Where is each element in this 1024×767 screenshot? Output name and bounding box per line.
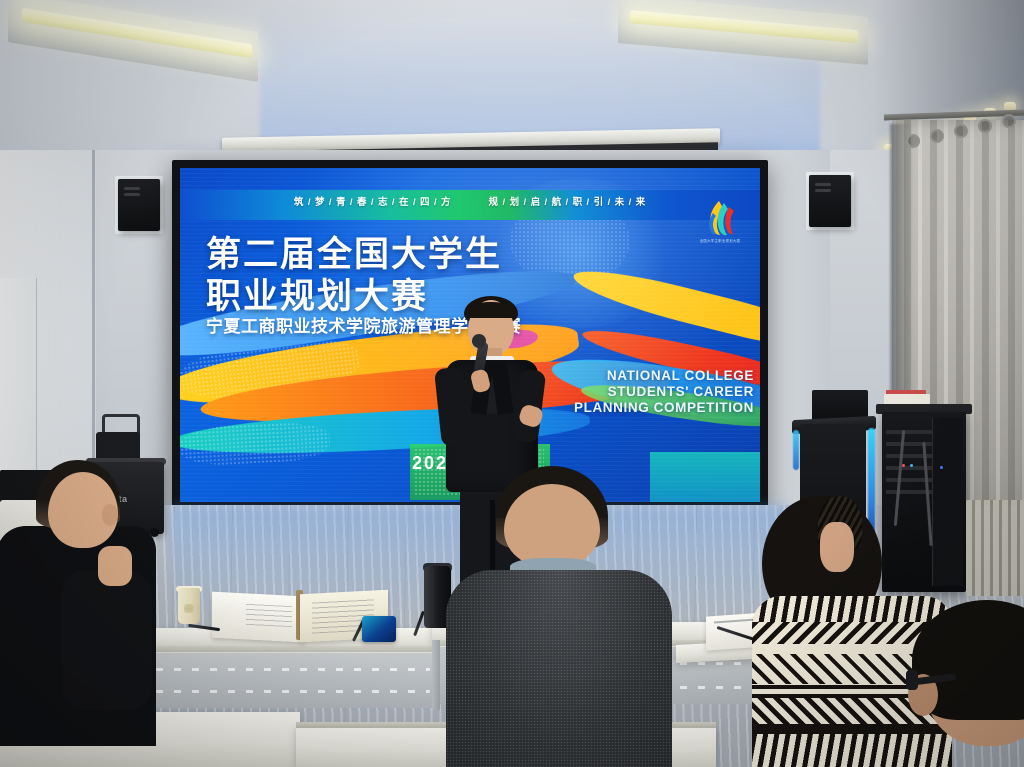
- rack-status-led: [910, 464, 913, 467]
- rack-slat: [886, 430, 932, 434]
- audience-member-left: [6, 460, 186, 767]
- audience-left-arm: [62, 570, 152, 710]
- slide-logo-caption: 全国大学生职业规划大赛: [685, 238, 755, 243]
- rack-status-led: [940, 466, 943, 469]
- slide-motto-right: 规 / 划 / 启 / 航 / 职 / 引 / 未 / 来: [489, 197, 647, 208]
- speaker-slot: [124, 193, 140, 196]
- notebook-writing: [246, 603, 292, 627]
- rack-papers: [884, 394, 930, 404]
- rack-status-led: [902, 464, 905, 467]
- slide-english-line2: STUDENTS' CAREER: [568, 384, 754, 400]
- slide-header-mottos: 筑 / 梦 / 青 / 春 / 志 / 在 / 四 / 方 规 / 划 / 启 …: [180, 194, 760, 208]
- desk-panel-perforation: [156, 668, 430, 671]
- flame-swoosh-logo: [701, 199, 737, 237]
- smartphone[interactable]: [362, 616, 396, 642]
- slide-english-block: NATIONAL COLLEGE STUDENTS' CAREER PLANNI…: [568, 368, 754, 416]
- curtain-grommet: [906, 134, 920, 148]
- audience-member-front-right: [912, 600, 1024, 767]
- presenter-hairline: [466, 302, 516, 318]
- audience-member-center: [452, 466, 672, 767]
- desk-panel-perforation: [156, 690, 430, 693]
- desk-modesty-panel: [148, 652, 438, 708]
- slide-english-line3: PLANNING COMPETITION: [568, 400, 754, 416]
- desk-leg: [432, 640, 440, 710]
- microphone-head: [472, 334, 486, 348]
- audience-left-hand: [98, 546, 132, 586]
- slide-english-line1: NATIONAL COLLEGE: [568, 368, 754, 384]
- speaker-slot: [124, 187, 140, 190]
- audience-right-face: [820, 522, 854, 572]
- glasses-hinge-icon: [906, 670, 918, 690]
- audience-center-sweater-texture: [446, 570, 672, 767]
- wall-speaker-right: [809, 175, 851, 227]
- curtain-grommet: [1002, 114, 1016, 128]
- podium-led-strip: [793, 430, 799, 470]
- speaker-slot: [815, 189, 831, 192]
- audience-center-head: [504, 484, 600, 568]
- curtain-grommet: [930, 129, 944, 143]
- curtain-grommet: [954, 124, 968, 138]
- slide-motto-left: 筑 / 梦 / 青 / 春 / 志 / 在 / 四 / 方: [294, 197, 452, 208]
- curtain-grommet: [978, 119, 992, 133]
- speaker-slot: [815, 183, 831, 186]
- audience-left-ear: [102, 504, 118, 526]
- presentation-room-photo: 筑 / 梦 / 青 / 春 / 志 / 在 / 四 / 方 规 / 划 / 启 …: [0, 0, 1024, 767]
- ribbon-teal-halftone: [180, 420, 331, 468]
- wall-speaker-left: [118, 179, 160, 231]
